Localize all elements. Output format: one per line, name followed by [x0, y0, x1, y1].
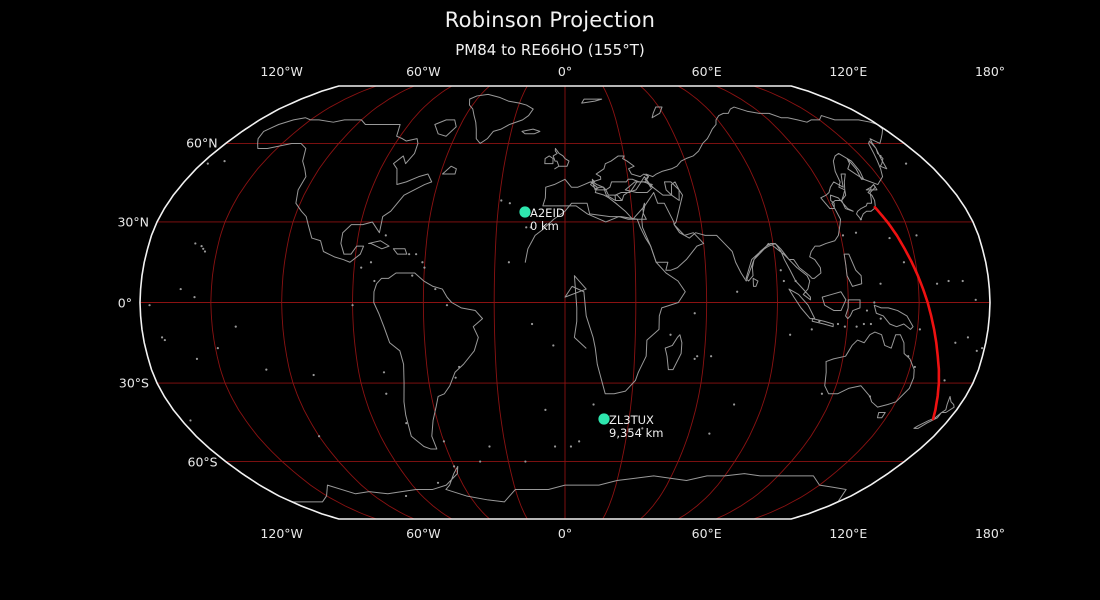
island-dot [943, 379, 945, 381]
lat-tick-60: 60°N [186, 136, 218, 151]
endpoint-marker-A2EID[interactable] [519, 206, 530, 217]
island-dot [408, 253, 410, 255]
coastline-baffin [435, 120, 456, 136]
island-dot [905, 163, 907, 165]
island-dot [736, 291, 738, 293]
island-dot [479, 460, 481, 462]
coastline-tasmania [877, 412, 885, 417]
island-dot [415, 253, 417, 255]
island-dot [204, 250, 206, 252]
lon-tick-top--120: 120°W [260, 64, 302, 79]
coastline-novayazemlya [652, 107, 662, 118]
island-dot [437, 482, 439, 484]
lon-tick-bottom-180: 180° [975, 526, 1005, 541]
endpoint-callsign: A2EID [530, 206, 565, 220]
island-dot [531, 323, 533, 325]
island-dot [856, 326, 858, 328]
island-dot [696, 355, 698, 357]
endpoint-distance: 0 km [530, 220, 565, 233]
coastline-iceland [522, 129, 540, 134]
island-dot [873, 301, 875, 303]
island-dot [500, 199, 502, 201]
island-dot [508, 261, 510, 263]
island-dot [879, 283, 881, 285]
island-dot [434, 288, 436, 290]
island-dot [879, 155, 881, 157]
coastline-sumatra [789, 289, 815, 319]
island-dot [385, 234, 387, 236]
island-dot [842, 234, 844, 236]
island-dot [458, 366, 460, 368]
island-dot [789, 334, 791, 336]
island-dot [967, 336, 969, 338]
endpoint-distance: 9,354 km [609, 427, 663, 440]
island-dot [405, 495, 407, 497]
island-dot [488, 445, 490, 447]
island-dot [888, 237, 890, 239]
island-dot [544, 409, 546, 411]
island-dot [821, 393, 823, 395]
lat-tick--60: 60°S [188, 454, 218, 469]
lon-tick-top-60: 60°E [692, 64, 722, 79]
island-dot [265, 369, 267, 371]
coastline-java [812, 319, 833, 327]
island-dot [421, 261, 423, 263]
island-dot [385, 393, 387, 395]
coastline-ireland [545, 156, 553, 164]
island-dot [860, 218, 862, 220]
coastline-northamerica [258, 118, 432, 263]
coastline-newguinea [874, 305, 913, 329]
island-dot [235, 326, 237, 328]
lat-tick-30: 30°N [117, 214, 149, 229]
island-dot [446, 304, 448, 306]
coastline-britain [553, 148, 569, 168]
island-dot [383, 371, 385, 373]
island-dot [915, 234, 917, 236]
island-dot [795, 280, 797, 282]
island-dot [455, 377, 457, 379]
island-dot [524, 460, 526, 462]
island-dot [907, 355, 909, 357]
island-dot [570, 445, 572, 447]
path-segment [875, 207, 939, 419]
island-dot [423, 267, 425, 269]
island-dot [855, 232, 857, 234]
island-dot [148, 304, 150, 306]
endpoint-label-ZL3TUX: ZL3TUX9,354 km [609, 414, 663, 440]
island-dot [975, 299, 977, 301]
island-dot [844, 326, 846, 328]
coastline-layer [148, 94, 983, 502]
island-dot [694, 358, 696, 360]
island-dot [954, 342, 956, 344]
coastline-srilanka [753, 278, 758, 286]
island-dot [411, 275, 413, 277]
island-dot [914, 366, 916, 368]
graticule-layer [140, 86, 990, 519]
island-dot [863, 323, 865, 325]
island-dot [405, 422, 407, 424]
island-dot [194, 242, 196, 244]
island-dot [189, 419, 191, 421]
island-dot [217, 347, 219, 349]
island-dot [869, 395, 871, 397]
great-circle-path [875, 207, 939, 419]
island-dot [780, 269, 782, 271]
island-dot [947, 280, 949, 282]
island-dot [976, 350, 978, 352]
coastline-sakhalin [847, 159, 863, 180]
island-dot [202, 248, 204, 250]
lon-tick-bottom--120: 120°W [260, 526, 302, 541]
island-dot [880, 318, 882, 320]
island-dot [207, 163, 209, 165]
island-dot [903, 261, 905, 263]
coastline-svalbard [582, 99, 602, 103]
lon-tick-top-0: 0° [558, 64, 572, 79]
island-dot [811, 328, 813, 330]
island-dot [360, 267, 362, 269]
island-dot [509, 202, 511, 204]
island-dot [164, 339, 166, 341]
coastline-hokkaido [866, 185, 877, 190]
lon-tick-top--60: 60°W [406, 64, 441, 79]
island-dot [180, 288, 182, 290]
island-dot [578, 440, 580, 442]
coastline-cuba [369, 241, 389, 249]
island-dot [313, 374, 315, 376]
island-dot [443, 440, 445, 442]
coastline-hispaniola [393, 249, 406, 254]
island-dot [708, 432, 710, 434]
coastline-borneo [822, 292, 846, 311]
lat-tick-0: 0° [118, 295, 132, 310]
island-dot [962, 280, 964, 282]
coastline-philippines [844, 254, 862, 286]
lon-tick-bottom--60: 60°W [406, 526, 441, 541]
island-dot [870, 323, 872, 325]
island-dot [592, 403, 594, 405]
island-dot [669, 334, 671, 336]
island-dot [453, 465, 455, 467]
map-figure: Robinson Projection PM84 to RE66HO (155°… [0, 0, 1100, 600]
island-dot [936, 283, 938, 285]
robinson-map-canvas[interactable] [0, 0, 1100, 600]
endpoint-label-A2EID: A2EID0 km [530, 207, 565, 233]
island-dot [161, 336, 163, 338]
island-dot [351, 304, 353, 306]
island-dot [694, 312, 696, 314]
endpoint-callsign: ZL3TUX [609, 413, 654, 427]
coastline-newfoundland [443, 166, 457, 174]
island-dot [866, 309, 868, 311]
island-dot [193, 296, 195, 298]
lon-tick-top-180: 180° [975, 64, 1005, 79]
lon-tick-bottom-60: 60°E [692, 526, 722, 541]
island-dot [552, 344, 554, 346]
coastline-greenland [469, 94, 533, 143]
coastline-eurasia [543, 107, 887, 300]
island-dot [981, 347, 983, 349]
island-dot [733, 403, 735, 405]
lon-tick-top-120: 120°E [829, 64, 867, 79]
island-dot [200, 245, 202, 247]
island-dot [525, 226, 527, 228]
lat-tick--30: 30°S [119, 376, 149, 391]
island-dot [554, 445, 556, 447]
island-dot [710, 355, 712, 357]
coastline-madagascar [665, 335, 682, 370]
coastline-southamerica [374, 273, 483, 449]
island-dot [370, 261, 372, 263]
lon-tick-bottom-120: 120°E [829, 526, 867, 541]
island-dot [196, 358, 198, 360]
island-dot [783, 280, 785, 282]
island-dot [818, 320, 820, 322]
lon-tick-bottom-0: 0° [558, 526, 572, 541]
island-dot [837, 323, 839, 325]
island-dot [318, 435, 320, 437]
island-dot [373, 280, 375, 282]
endpoint-marker-ZL3TUX[interactable] [598, 413, 609, 424]
island-dot [919, 328, 921, 330]
island-dot [223, 160, 225, 162]
